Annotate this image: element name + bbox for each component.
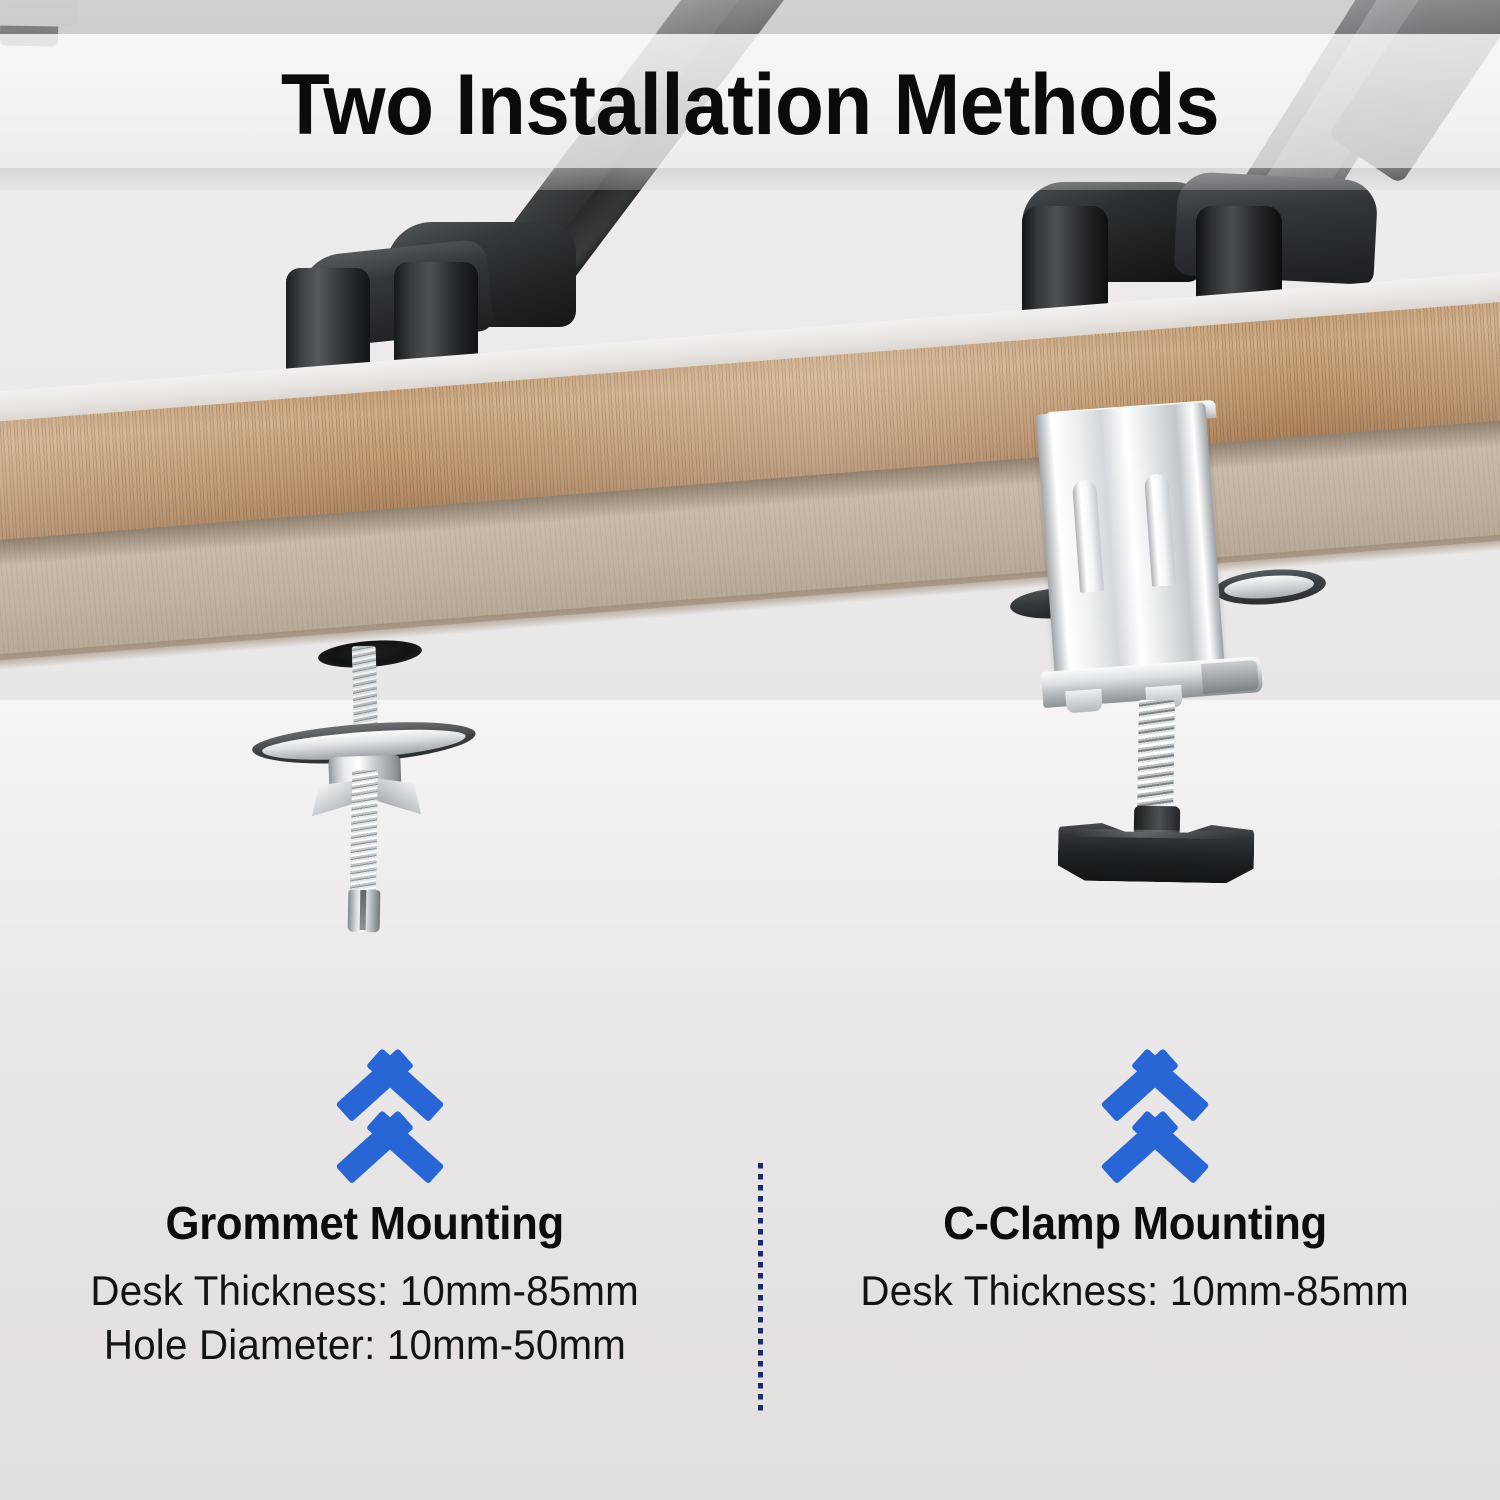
method-columns: Grommet Mounting Desk Thickness: 10mm-85… (0, 1196, 1500, 1446)
c-clamp-spec-desk-thickness: Desk Thickness: 10mm-85mm (861, 1264, 1410, 1318)
grommet-bolt-tip-slot (360, 890, 367, 930)
c-clamp-jaw-lip (1201, 660, 1259, 694)
chevron-up-icon (1085, 1035, 1225, 1099)
left-mount-slot (0, 0, 78, 27)
grommet-method-title: Grommet Mounting (166, 1196, 564, 1250)
c-clamp-screw-thread (1137, 700, 1175, 819)
c-clamp-tab-left (1065, 689, 1103, 714)
infographic-canvas: Two Installation Methods Grommet Mountin… (0, 0, 1500, 1500)
c-clamp-double-chevron-up-icon (1085, 1035, 1225, 1165)
grommet-spec-desk-thickness: Desk Thickness: 10mm-85mm (91, 1264, 640, 1318)
c-clamp-bracket-body (1036, 402, 1227, 702)
chevron-up-icon (320, 1097, 460, 1161)
c-clamp-method-title: C-Clamp Mounting (943, 1196, 1327, 1250)
grommet-bolt-lower-thread (350, 770, 378, 896)
grommet-spec-hole-diameter: Hole Diameter: 10mm-50mm (104, 1318, 626, 1372)
page-title: Two Installation Methods (53, 50, 1448, 160)
method-column-grommet: Grommet Mounting Desk Thickness: 10mm-85… (0, 1196, 750, 1446)
grommet-double-chevron-up-icon (320, 1035, 460, 1165)
right-mount-notch (0, 25, 58, 46)
method-column-c-clamp: C-Clamp Mounting Desk Thickness: 10mm-85… (750, 1196, 1500, 1446)
chevron-up-icon (320, 1035, 460, 1099)
chevron-up-icon (1085, 1097, 1225, 1161)
